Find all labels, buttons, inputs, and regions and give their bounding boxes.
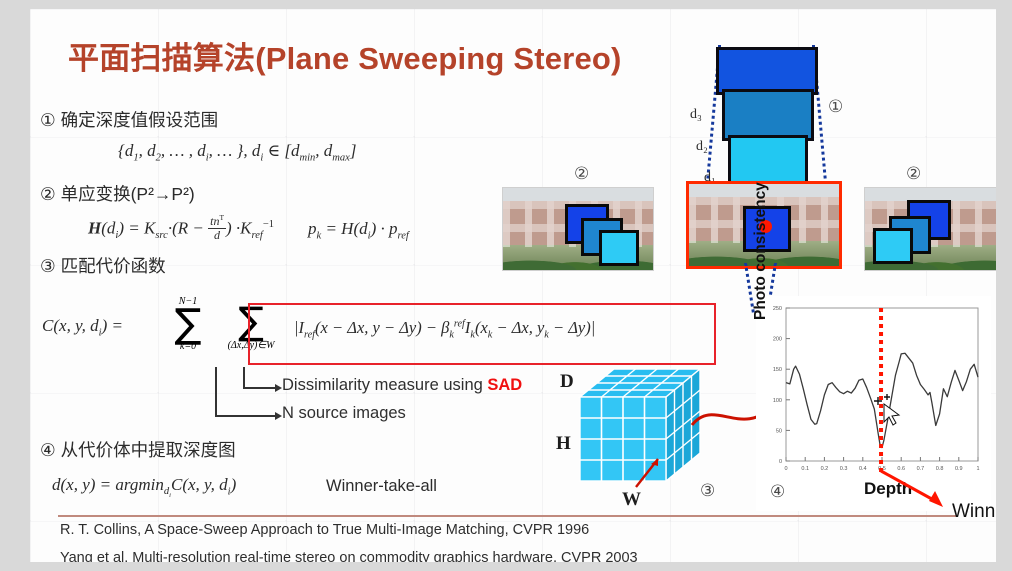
source-view-right-group: ②	[858, 164, 996, 279]
svg-text:0.3: 0.3	[840, 466, 848, 472]
bullet-2: ② 单应变换(P²→P²)	[40, 181, 195, 206]
arrow-elbow-inner	[243, 387, 277, 389]
step-marker-three: ③	[700, 481, 715, 501]
svg-text:0.2: 0.2	[821, 466, 829, 472]
formula-argmin: d(x, y) = argmindiC(x, y, di)	[52, 475, 236, 500]
svg-text:50: 50	[776, 428, 782, 434]
footer-divider	[58, 515, 958, 517]
source-view-left-group: ②	[496, 164, 666, 279]
depth-label-d2: d₂	[696, 139, 708, 155]
cost-formula-highlight-box	[248, 303, 716, 365]
svg-text:0.7: 0.7	[917, 466, 925, 472]
svg-text:0.6: 0.6	[897, 466, 905, 472]
step-marker-two-right: ②	[906, 164, 921, 184]
bullet-4-label: 从代价体中提取深度图	[61, 440, 236, 460]
formula-cost-left: C(x, y, di) =	[42, 316, 123, 338]
bullet-3-marker: ③	[40, 256, 56, 276]
svg-text:250: 250	[773, 306, 782, 312]
depth-label-d3: d₃	[690, 107, 702, 123]
arrow-stem-outer	[215, 367, 217, 417]
step-marker-one: ①	[828, 97, 843, 117]
source-right-patch-d1	[873, 228, 913, 264]
source-image-left	[502, 187, 654, 271]
formula-point-map: pk = H(di) · pref	[308, 219, 409, 241]
bullet-4: ④ 从代价体中提取深度图	[40, 437, 236, 462]
plane-sweep-diagram: d₃ d₂ d₁ ①	[670, 29, 870, 184]
reference-1: R. T. Collins, A Space-Sweep Approach to…	[60, 522, 589, 538]
svg-text:0: 0	[779, 459, 782, 465]
bullet-1-label: 确定深度值假设范围	[61, 110, 219, 130]
svg-text:1: 1	[976, 466, 979, 472]
svg-text:200: 200	[773, 337, 782, 343]
page-title: 平面扫描算法(Plane Sweeping Stereo)	[68, 33, 622, 78]
svg-text:100: 100	[773, 398, 782, 404]
dissimilarity-label: Dissimilarity measure using	[282, 376, 487, 394]
svg-text:0.8: 0.8	[936, 466, 944, 472]
bullet-3-label: 匹配代价函数	[61, 256, 166, 276]
svg-text:0: 0	[784, 466, 787, 472]
source-image-right	[864, 187, 996, 271]
arrow-head-outer	[275, 412, 282, 420]
formula-homography: H(di) = Ksrc·(R − tnT d ) ·Kref−1	[88, 214, 274, 241]
bullet-3: ③ 匹配代价函数	[40, 253, 166, 278]
formula-depth-set: {d1, d2, … , di, … }, di ∈ [dmin, dmax]	[118, 141, 356, 163]
step-marker-two-left: ②	[574, 164, 589, 184]
winner-take-all-label: Winner-take-all	[326, 477, 437, 496]
bullet-2-marker: ②	[40, 184, 56, 204]
n-source-annotation: N source images	[282, 404, 406, 423]
svg-text:150: 150	[773, 367, 782, 373]
photo-consistency-chart: Photo consistency Depth Winner ④ 0501001…	[756, 296, 991, 511]
bullet-1-marker: ①	[40, 110, 56, 130]
svg-text:0.4: 0.4	[859, 466, 867, 472]
arrow-elbow-outer	[215, 415, 277, 417]
dissimilarity-annotation: Dissimilarity measure using SAD	[282, 376, 522, 395]
bullet-4-marker: ④	[40, 440, 56, 460]
reference-2: Yang et al. Multi-resolution real-time s…	[60, 550, 638, 562]
arrow-head-inner	[275, 384, 282, 392]
bullet-2-label: 单应变换(P²→P²)	[61, 184, 195, 204]
bullet-1: ① 确定深度值假设范围	[40, 107, 218, 132]
slide-canvas: 平面扫描算法(Plane Sweeping Stereo) ① 确定深度值假设范…	[30, 9, 996, 562]
sad-label: SAD	[487, 376, 522, 394]
svg-text:0.9: 0.9	[955, 466, 963, 472]
source-left-patch-d1	[599, 230, 639, 266]
depth-plane-d2	[722, 89, 814, 141]
svg-text:0.1: 0.1	[801, 466, 809, 472]
depth-plane-d3	[716, 47, 818, 95]
arrow-stem-inner	[243, 367, 245, 389]
chart-plot-area: 05010015020025000.10.20.30.40.50.60.70.8…	[756, 296, 991, 511]
